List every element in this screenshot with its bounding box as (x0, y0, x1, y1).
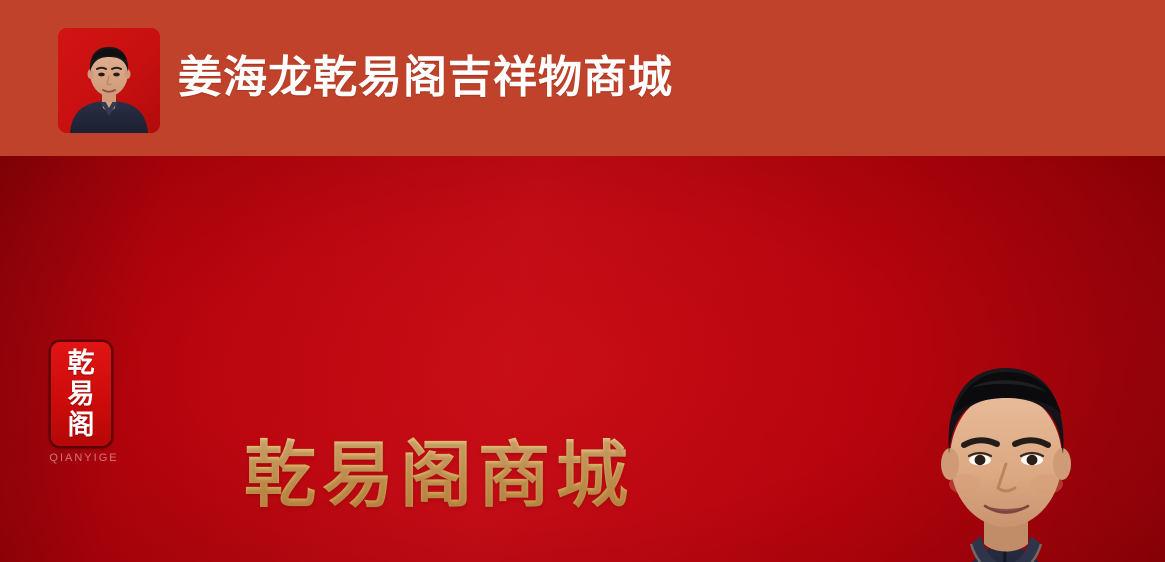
promo-banner-page: 姜海龙乾易阁吉祥物商城 乾 易 阁 QIANYIGE 乾易阁商城 姜海龙吉祥物乾… (0, 0, 1165, 562)
banner-headline: 乾易阁商城 (244, 428, 634, 524)
header-bar: 姜海龙乾易阁吉祥物商城 (0, 0, 1165, 156)
seal-body: 乾 易 阁 (51, 342, 111, 446)
user-portrait-photo-icon (58, 28, 160, 133)
page-title: 姜海龙乾易阁吉祥物商城 (178, 40, 673, 116)
man-portrait-photo-icon (845, 312, 1165, 562)
seal-char-1: 乾 (68, 348, 95, 379)
avatar[interactable] (58, 28, 160, 133)
seal-char-2: 易 (68, 379, 95, 410)
qianyige-seal-logo-icon[interactable]: 乾 易 阁 QIANYIGE (42, 342, 126, 474)
seal-char-3: 阁 (68, 410, 95, 441)
seal-subtext: QIANYIGE (42, 452, 126, 464)
hero-banner: 乾 易 阁 QIANYIGE 乾易阁商城 姜海龙吉祥物乾易阁商城 (0, 156, 1165, 562)
